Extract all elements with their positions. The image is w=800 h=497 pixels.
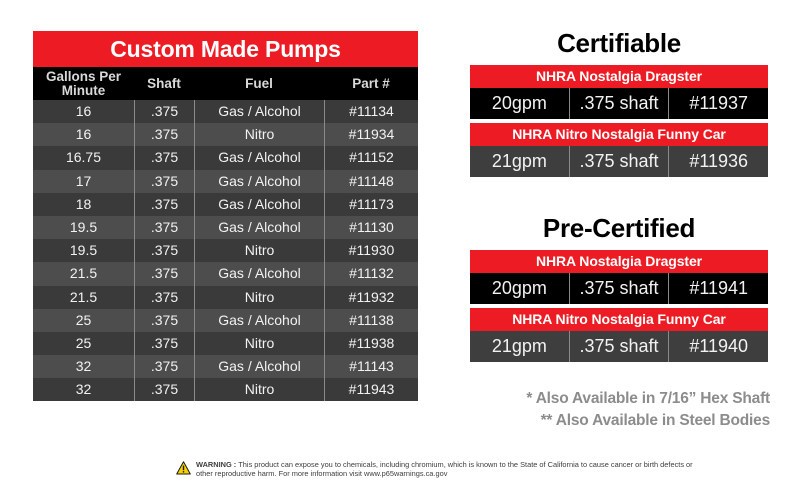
certifiable-heading: Certifiable bbox=[470, 27, 768, 59]
cell-part: #11934 bbox=[324, 123, 418, 146]
precertified-heading: Pre-Certified bbox=[470, 212, 768, 244]
spec-row: 20gpm .375 shaft #11941 bbox=[470, 273, 768, 304]
certifiable-section: Certifiable NHRA Nostalgia Dragster 20gp… bbox=[470, 27, 768, 177]
cell-gpm: 21.5 bbox=[33, 286, 134, 309]
cell-shaft: .375 bbox=[134, 309, 194, 332]
cell-gpm: 19.5 bbox=[33, 216, 134, 239]
cell-fuel: Nitro bbox=[194, 286, 324, 309]
cell-gpm: 18 bbox=[33, 193, 134, 216]
category-bar-nhra-nitro-nostalgia-funny-car: NHRA Nitro Nostalgia Funny Car bbox=[470, 123, 768, 146]
cell-gpm: 17 bbox=[33, 170, 134, 193]
cell-gpm: 16 bbox=[33, 123, 134, 146]
table-row: 21.5 .375 Gas / Alcohol #11132 bbox=[33, 262, 418, 285]
cell-shaft: .375 bbox=[134, 146, 194, 169]
cell-shaft: .375 bbox=[134, 100, 194, 123]
cell-fuel: Gas / Alcohol bbox=[194, 355, 324, 378]
cell-part: #11940 bbox=[668, 331, 768, 362]
column-header-fuel: Fuel bbox=[194, 77, 324, 91]
cell-part: #11936 bbox=[668, 146, 768, 177]
cell-gpm: 21gpm bbox=[470, 331, 569, 362]
prop65-warning-label: WARNING : bbox=[196, 460, 238, 469]
table-row: 21.5 .375 Nitro #11932 bbox=[33, 286, 418, 309]
spec-row: 21gpm .375 shaft #11936 bbox=[470, 146, 768, 177]
footnotes: * Also Available in 7/16” Hex Shaft ** A… bbox=[470, 388, 770, 432]
cell-part: #11932 bbox=[324, 286, 418, 309]
cell-fuel: Gas / Alcohol bbox=[194, 216, 324, 239]
precertified-section: Pre-Certified NHRA Nostalgia Dragster 20… bbox=[470, 212, 768, 362]
cell-shaft: .375 bbox=[134, 123, 194, 146]
cell-gpm: 25 bbox=[33, 332, 134, 355]
cell-shaft: .375 shaft bbox=[569, 331, 669, 362]
cell-gpm: 21gpm bbox=[470, 146, 569, 177]
column-header-shaft: Shaft bbox=[134, 77, 194, 91]
cell-part: #11143 bbox=[324, 355, 418, 378]
table-row: 32 .375 Gas / Alcohol #11143 bbox=[33, 355, 418, 378]
cell-gpm: 16.75 bbox=[33, 146, 134, 169]
cell-gpm: 21.5 bbox=[33, 262, 134, 285]
cell-part: #11138 bbox=[324, 309, 418, 332]
column-header-part-number: Part # bbox=[324, 77, 418, 91]
cell-fuel: Gas / Alcohol bbox=[194, 193, 324, 216]
table-row: 18 .375 Gas / Alcohol #11173 bbox=[33, 193, 418, 216]
table-row: 25 .375 Gas / Alcohol #11138 bbox=[33, 309, 418, 332]
category-bar-nhra-nostalgia-dragster: NHRA Nostalgia Dragster bbox=[470, 65, 768, 88]
cell-fuel: Nitro bbox=[194, 332, 324, 355]
prop65-warning-text: WARNING : This product can expose you to… bbox=[196, 460, 696, 479]
prop65-warning-body: This product can expose you to chemicals… bbox=[196, 460, 693, 478]
cell-part: #11930 bbox=[324, 239, 418, 262]
custom-made-pumps-table: Custom Made Pumps Gallons PerMinute Shaf… bbox=[33, 31, 418, 401]
cell-gpm: 20gpm bbox=[470, 88, 569, 119]
cell-part: #11938 bbox=[324, 332, 418, 355]
cell-gpm: 16 bbox=[33, 100, 134, 123]
cell-part: #11937 bbox=[668, 88, 768, 119]
cell-gpm: 19.5 bbox=[33, 239, 134, 262]
cell-shaft: .375 bbox=[134, 262, 194, 285]
cell-gpm: 32 bbox=[33, 355, 134, 378]
cell-part: #11943 bbox=[324, 378, 418, 401]
cell-shaft: .375 bbox=[134, 216, 194, 239]
table-row: 16 .375 Gas / Alcohol #11134 bbox=[33, 100, 418, 123]
category-bar-nhra-nitro-nostalgia-funny-car: NHRA Nitro Nostalgia Funny Car bbox=[470, 308, 768, 331]
pumps-table-title: Custom Made Pumps bbox=[33, 31, 418, 67]
cell-part: #11173 bbox=[324, 193, 418, 216]
spec-row: 21gpm .375 shaft #11940 bbox=[470, 331, 768, 362]
table-row: 25 .375 Nitro #11938 bbox=[33, 332, 418, 355]
table-row: 32 .375 Nitro #11943 bbox=[33, 378, 418, 401]
cell-part: #11130 bbox=[324, 216, 418, 239]
cell-shaft: .375 bbox=[134, 193, 194, 216]
cell-shaft: .375 bbox=[134, 378, 194, 401]
cell-fuel: Gas / Alcohol bbox=[194, 146, 324, 169]
cell-shaft: .375 bbox=[134, 355, 194, 378]
cell-gpm: 20gpm bbox=[470, 273, 569, 304]
cell-gpm: 25 bbox=[33, 309, 134, 332]
table-row: 17 .375 Gas / Alcohol #11148 bbox=[33, 170, 418, 193]
cell-part: #11134 bbox=[324, 100, 418, 123]
footnote-hex-shaft: * Also Available in 7/16” Hex Shaft bbox=[470, 388, 770, 410]
warning-triangle-icon bbox=[176, 461, 191, 480]
pumps-table-header-row: Gallons PerMinute Shaft Fuel Part # bbox=[33, 67, 418, 100]
footnote-steel-bodies: ** Also Available in Steel Bodies bbox=[470, 410, 770, 432]
prop65-warning: WARNING : This product can expose you to… bbox=[176, 460, 696, 480]
cell-shaft: .375 shaft bbox=[569, 273, 669, 304]
table-row: 19.5 .375 Nitro #11930 bbox=[33, 239, 418, 262]
cell-part: #11941 bbox=[668, 273, 768, 304]
cell-shaft: .375 bbox=[134, 286, 194, 309]
cell-fuel: Nitro bbox=[194, 378, 324, 401]
cell-shaft: .375 shaft bbox=[569, 146, 669, 177]
table-row: 16.75 .375 Gas / Alcohol #11152 bbox=[33, 146, 418, 169]
cell-fuel: Gas / Alcohol bbox=[194, 262, 324, 285]
cell-gpm: 32 bbox=[33, 378, 134, 401]
cell-fuel: Nitro bbox=[194, 239, 324, 262]
spec-row: 20gpm .375 shaft #11937 bbox=[470, 88, 768, 119]
cell-fuel: Gas / Alcohol bbox=[194, 309, 324, 332]
cell-part: #11148 bbox=[324, 170, 418, 193]
cell-shaft: .375 bbox=[134, 332, 194, 355]
cell-part: #11132 bbox=[324, 262, 418, 285]
cell-shaft: .375 bbox=[134, 170, 194, 193]
cell-shaft: .375 bbox=[134, 239, 194, 262]
cell-fuel: Nitro bbox=[194, 123, 324, 146]
table-row: 16 .375 Nitro #11934 bbox=[33, 123, 418, 146]
cell-fuel: Gas / Alcohol bbox=[194, 170, 324, 193]
cell-shaft: .375 shaft bbox=[569, 88, 669, 119]
table-row: 19.5 .375 Gas / Alcohol #11130 bbox=[33, 216, 418, 239]
cell-fuel: Gas / Alcohol bbox=[194, 100, 324, 123]
column-header-gallons-per-minute: Gallons PerMinute bbox=[33, 70, 134, 98]
cell-part: #11152 bbox=[324, 146, 418, 169]
category-bar-nhra-nostalgia-dragster: NHRA Nostalgia Dragster bbox=[470, 250, 768, 273]
